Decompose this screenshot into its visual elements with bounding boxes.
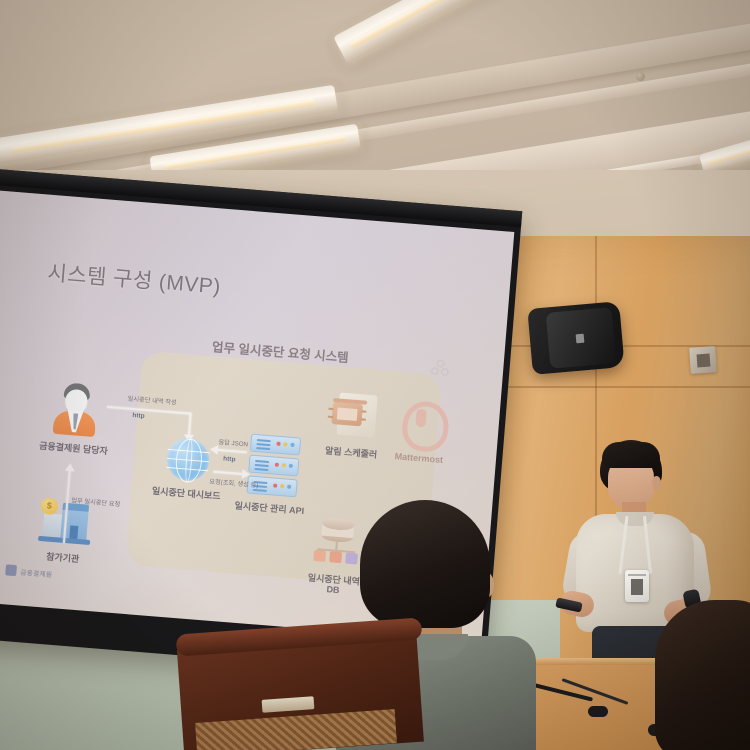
audience-member bbox=[655, 600, 750, 750]
speaker-logo bbox=[576, 334, 585, 344]
id-badge-line bbox=[628, 574, 646, 576]
microphone-head bbox=[588, 706, 608, 717]
presentation-photo: 시스템 구성 (MVP) 업무 일시중단 요청 시스템 금융결제원 담당자 $ … bbox=[0, 0, 750, 750]
id-badge-photo bbox=[631, 579, 643, 595]
scheduler-icon bbox=[328, 390, 380, 442]
arrow-head-left bbox=[210, 444, 219, 455]
arrow-head-right bbox=[242, 469, 251, 480]
node-label-staff: 금융결제원 담당자 bbox=[23, 437, 124, 458]
slide-footer-logo: 금융결제원 bbox=[5, 564, 53, 579]
fluorescent-light-fixture bbox=[333, 0, 502, 63]
coin-symbol: $ bbox=[46, 500, 52, 510]
presenter-ear bbox=[652, 476, 661, 490]
logo-mark-icon bbox=[5, 564, 17, 576]
audience-hair bbox=[655, 600, 750, 750]
person-icon bbox=[51, 382, 101, 438]
arrow-head-up bbox=[65, 463, 76, 472]
edge-label-http-1: http bbox=[132, 412, 145, 420]
slide-title: 시스템 구성 (MVP) bbox=[46, 257, 222, 301]
ceiling-fixture-dot bbox=[636, 72, 645, 81]
edge-label-http-2: http bbox=[223, 455, 236, 463]
wall-plate-inner bbox=[697, 354, 711, 368]
presenter-hair-front bbox=[602, 442, 660, 468]
mattermost-icon bbox=[398, 400, 444, 449]
wood-panel-seam bbox=[490, 386, 750, 388]
slide-watermark-icon bbox=[426, 356, 454, 382]
node-label-institution: 참가기관 bbox=[22, 548, 103, 567]
logo-text: 금융결제원 bbox=[20, 566, 53, 579]
audience-hair bbox=[360, 500, 490, 628]
